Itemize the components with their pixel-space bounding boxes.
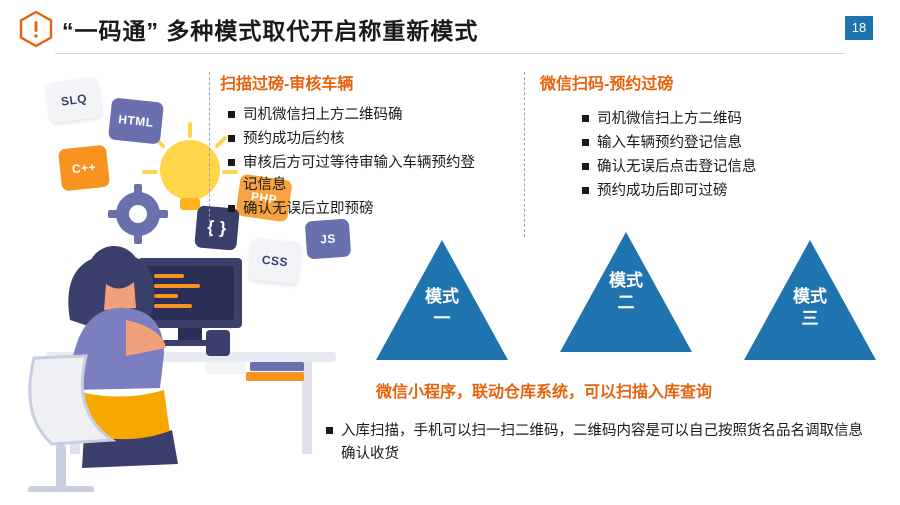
tag-css: CSS <box>248 238 302 285</box>
slide-root: “一码通” 多种模式取代开启称重新模式 18 <box>0 0 900 505</box>
column-2-heading: 微信扫码-预约过磅 <box>540 70 673 94</box>
tag-html: HTML <box>108 97 164 144</box>
list-item: 确认无误后立即预磅 <box>228 198 480 220</box>
bullet-square-icon <box>228 159 235 166</box>
bullet-square-icon <box>228 135 235 142</box>
mode-1-label: 模式 一 <box>382 286 502 330</box>
column-2-bullets: 司机微信扫上方二维码 输入车辆预约登记信息 确认无误后点击登记信息 预约成功后即… <box>582 108 842 204</box>
list-item: 确认无误后点击登记信息 <box>582 156 842 178</box>
tag-js: JS <box>305 219 352 260</box>
page-title: “一码通” 多种模式取代开启称重新模式 <box>62 12 478 46</box>
header-divider <box>55 53 845 54</box>
tag-cpp: C++ <box>58 145 110 192</box>
list-item: 输入车辆预约登记信息 <box>582 132 842 154</box>
list-item: 预约成功后即可过磅 <box>582 180 842 202</box>
gear-icon <box>108 184 168 244</box>
column-1-heading: 扫描过磅-审核车辆 <box>220 70 353 94</box>
bullet-square-icon <box>228 111 235 118</box>
bottom-bullets: 入库扫描，手机可以扫一扫二维码，二维码内容是可以自己按照货名品名调取信息确认收货 <box>326 420 866 468</box>
column-1-bullets: 司机微信扫上方二维码确 预约成功后约核 审核后方可过等待审输入车辆预约登记信息 … <box>228 104 480 222</box>
column-1-dash-line <box>209 72 210 237</box>
bullet-square-icon <box>582 163 589 170</box>
bullet-square-icon <box>582 115 589 122</box>
bullet-square-icon <box>582 139 589 146</box>
list-item: 入库扫描，手机可以扫一扫二维码，二维码内容是可以自己按照货名品名调取信息确认收货 <box>326 420 866 466</box>
mode-3-label: 模式 三 <box>750 286 870 330</box>
column-2-dash-line <box>524 72 525 237</box>
list-item: 预约成功后约核 <box>228 128 480 150</box>
list-item: 司机微信扫上方二维码 <box>582 108 842 130</box>
bullet-square-icon <box>228 205 235 212</box>
bullet-square-icon <box>326 427 333 434</box>
tag-slq: SLQ <box>45 77 102 124</box>
slide-header: “一码通” 多种模式取代开启称重新模式 18 <box>0 0 900 57</box>
bullet-square-icon <box>582 187 589 194</box>
list-item: 司机微信扫上方二维码确 <box>228 104 480 126</box>
bottom-heading: 微信小程序，联动仓库系统，可以扫描入库查询 <box>376 378 712 402</box>
mode-2-label: 模式 二 <box>566 270 686 314</box>
exclamation-hexagon-icon <box>18 10 54 48</box>
page-number-badge: 18 <box>845 16 873 40</box>
list-item: 审核后方可过等待审输入车辆预约登记信息 <box>228 152 480 196</box>
